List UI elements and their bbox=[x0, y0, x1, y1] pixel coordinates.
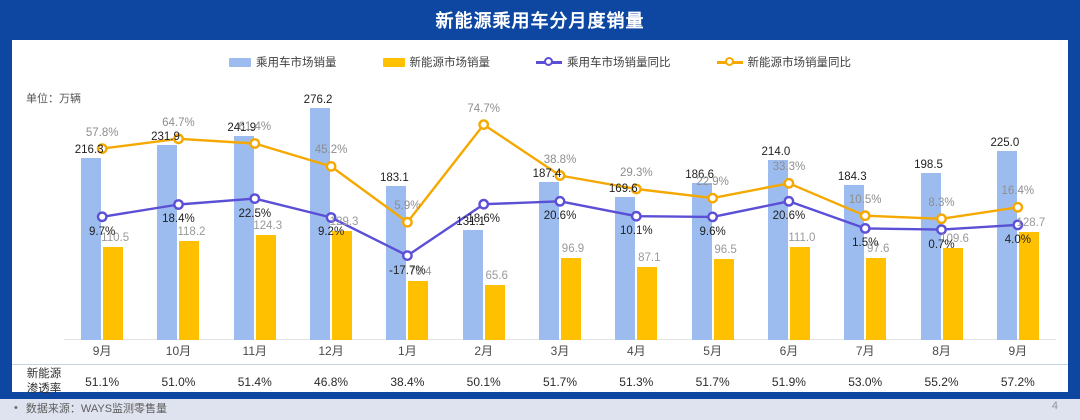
x-axis-tick: 7月 bbox=[835, 342, 895, 359]
x-axis-tick: 12月 bbox=[301, 342, 361, 359]
penetration-rate-cell: 51.9% bbox=[759, 375, 819, 389]
line-label-nev-yoy: 5.9% bbox=[379, 200, 435, 212]
x-axis-tick: 4月 bbox=[606, 342, 666, 359]
line-label-nev-yoy: 8.3% bbox=[914, 197, 970, 209]
bar-label-passenger-vehicle: 184.3 bbox=[824, 171, 880, 183]
x-axis-tick: 8月 bbox=[912, 342, 972, 359]
penetration-rate-label-line1: 新能源 bbox=[18, 367, 70, 382]
legend-item-0[interactable]: 乘用车市场销量 bbox=[229, 54, 337, 70]
penetration-rate-label: 新能源 渗透率 bbox=[18, 367, 70, 397]
x-axis-tick: 2月 bbox=[454, 342, 514, 359]
bar-label-nev: 96.5 bbox=[698, 244, 754, 256]
bar-label-nev: 124.3 bbox=[240, 220, 296, 232]
line-label-pv-yoy: 20.6% bbox=[761, 210, 817, 222]
bar-label-nev: 87.1 bbox=[621, 252, 677, 264]
x-axis-tick: 3月 bbox=[530, 342, 590, 359]
penetration-rate-label-line2: 渗透率 bbox=[18, 382, 70, 397]
bullet-icon: • bbox=[14, 402, 18, 414]
bar-label-passenger-vehicle: 183.1 bbox=[366, 172, 422, 184]
line-label-nev-yoy: 64.7% bbox=[150, 117, 206, 129]
penetration-rate-cell: 38.4% bbox=[377, 375, 437, 389]
penetration-rate-cell: 51.7% bbox=[683, 375, 743, 389]
line-label-pv-yoy: 4.0% bbox=[990, 234, 1046, 246]
penetration-rate-cell: 46.8% bbox=[301, 375, 361, 389]
bar-label-passenger-vehicle: 214.0 bbox=[748, 146, 804, 158]
penetration-rate-cell: 53.0% bbox=[835, 375, 895, 389]
bar-label-nev: 96.9 bbox=[545, 243, 601, 255]
x-axis-tick: 9月 bbox=[988, 342, 1048, 359]
line-label-pv-yoy: 18.6% bbox=[456, 213, 512, 225]
bar-label-nev: 111.0 bbox=[774, 232, 830, 244]
data-labels-layer: 216.3110.557.8%9.7%231.9118.264.7%18.4%2… bbox=[64, 88, 1056, 340]
bar-label-passenger-vehicle: 198.5 bbox=[901, 159, 957, 171]
page-number: 4 bbox=[1052, 400, 1058, 412]
x-axis-labels: 9月10月11月12月1月2月3月4月5月6月7月8月9月 bbox=[64, 342, 1056, 364]
chart-plot-area: 216.3110.557.8%9.7%231.9118.264.7%18.4%2… bbox=[64, 88, 1056, 340]
legend-swatch-icon bbox=[383, 58, 405, 67]
line-label-nev-yoy: 10.5% bbox=[837, 194, 893, 206]
line-label-pv-yoy: 22.5% bbox=[227, 208, 283, 220]
legend-line-icon bbox=[717, 57, 743, 68]
penetration-rate-cell: 50.1% bbox=[454, 375, 514, 389]
data-source-text: 数据来源：WAYS监测零售量 bbox=[26, 400, 167, 416]
footer-note: • 数据来源：WAYS监测零售量 bbox=[14, 400, 167, 416]
x-axis-tick: 6月 bbox=[759, 342, 819, 359]
penetration-rate-cell: 55.2% bbox=[912, 375, 972, 389]
line-label-nev-yoy: 22.9% bbox=[685, 176, 741, 188]
x-axis-tick: 10月 bbox=[148, 342, 208, 359]
x-axis-tick: 9月 bbox=[72, 342, 132, 359]
chart-card: 乘用车市场销量新能源市场销量乘用车市场销量同比新能源市场销量同比 单位：万辆 2… bbox=[12, 40, 1068, 392]
bar-label-passenger-vehicle: 276.2 bbox=[290, 94, 346, 106]
line-label-pv-yoy: 0.7% bbox=[914, 239, 970, 251]
penetration-rate-cell: 51.0% bbox=[148, 375, 208, 389]
line-label-pv-yoy: 9.7% bbox=[74, 226, 130, 238]
line-label-nev-yoy: 29.3% bbox=[608, 167, 664, 179]
line-label-nev-yoy: 45.2% bbox=[303, 144, 359, 156]
bar-label-nev: 128.7 bbox=[1003, 217, 1059, 229]
line-label-nev-yoy: 74.7% bbox=[456, 103, 512, 115]
line-label-pv-yoy: 9.6% bbox=[685, 226, 741, 238]
bar-label-passenger-vehicle: 216.3 bbox=[61, 144, 117, 156]
penetration-rate-cell: 51.1% bbox=[72, 375, 132, 389]
legend-label: 新能源市场销量同比 bbox=[748, 54, 852, 70]
legend-line-icon bbox=[536, 57, 562, 68]
line-label-pv-yoy: 20.6% bbox=[532, 210, 588, 222]
line-label-nev-yoy: 61.4% bbox=[227, 121, 283, 133]
penetration-rate-cell: 51.3% bbox=[606, 375, 666, 389]
penetration-rate-cell: 51.4% bbox=[225, 375, 285, 389]
penetration-rate-cell: 51.7% bbox=[530, 375, 590, 389]
page-title: 新能源乘用车分月度销量 bbox=[436, 7, 645, 33]
line-label-pv-yoy: 18.4% bbox=[150, 213, 206, 225]
line-label-pv-yoy: 10.1% bbox=[608, 225, 664, 237]
frame-left-border bbox=[0, 0, 12, 399]
legend-swatch-icon bbox=[229, 58, 251, 67]
bar-label-passenger-vehicle: 225.0 bbox=[977, 137, 1033, 149]
x-axis-tick: 1月 bbox=[377, 342, 437, 359]
penetration-rate-row: 新能源 渗透率 51.1%51.0%51.4%46.8%38.4%50.1%51… bbox=[12, 364, 1068, 404]
x-axis-tick: 5月 bbox=[683, 342, 743, 359]
legend-item-1[interactable]: 新能源市场销量 bbox=[383, 54, 491, 70]
slide: 新能源乘用车分月度销量 乘用车市场销量新能源市场销量乘用车市场销量同比新能源市场… bbox=[0, 0, 1080, 420]
line-label-nev-yoy: 33.3% bbox=[761, 161, 817, 173]
line-label-pv-yoy: 9.2% bbox=[303, 226, 359, 238]
legend-item-2[interactable]: 乘用车市场销量同比 bbox=[536, 54, 671, 70]
bar-label-passenger-vehicle: 169.6 bbox=[595, 183, 651, 195]
penetration-rate-cell: 57.2% bbox=[988, 375, 1048, 389]
bar-label-passenger-vehicle: 231.9 bbox=[137, 131, 193, 143]
x-axis-tick: 11月 bbox=[225, 342, 285, 359]
legend-label: 新能源市场销量 bbox=[410, 54, 491, 70]
line-label-pv-yoy: 1.5% bbox=[837, 237, 893, 249]
legend-label: 乘用车市场销量同比 bbox=[567, 54, 671, 70]
bar-label-passenger-vehicle: 187.4 bbox=[519, 168, 575, 180]
bar-label-nev: 65.6 bbox=[469, 270, 525, 282]
legend-label: 乘用车市场销量 bbox=[256, 54, 337, 70]
frame-right-border bbox=[1068, 0, 1080, 399]
line-label-nev-yoy: 16.4% bbox=[990, 185, 1046, 197]
chart-legend: 乘用车市场销量新能源市场销量乘用车市场销量同比新能源市场销量同比 bbox=[12, 50, 1068, 74]
line-label-nev-yoy: 38.8% bbox=[532, 154, 588, 166]
bar-label-nev: 118.2 bbox=[163, 226, 219, 238]
line-label-pv-yoy: -17.7% bbox=[379, 265, 435, 277]
legend-item-3[interactable]: 新能源市场销量同比 bbox=[717, 54, 852, 70]
slide-title-bar: 新能源乘用车分月度销量 bbox=[0, 0, 1080, 40]
line-label-nev-yoy: 57.8% bbox=[74, 127, 130, 139]
